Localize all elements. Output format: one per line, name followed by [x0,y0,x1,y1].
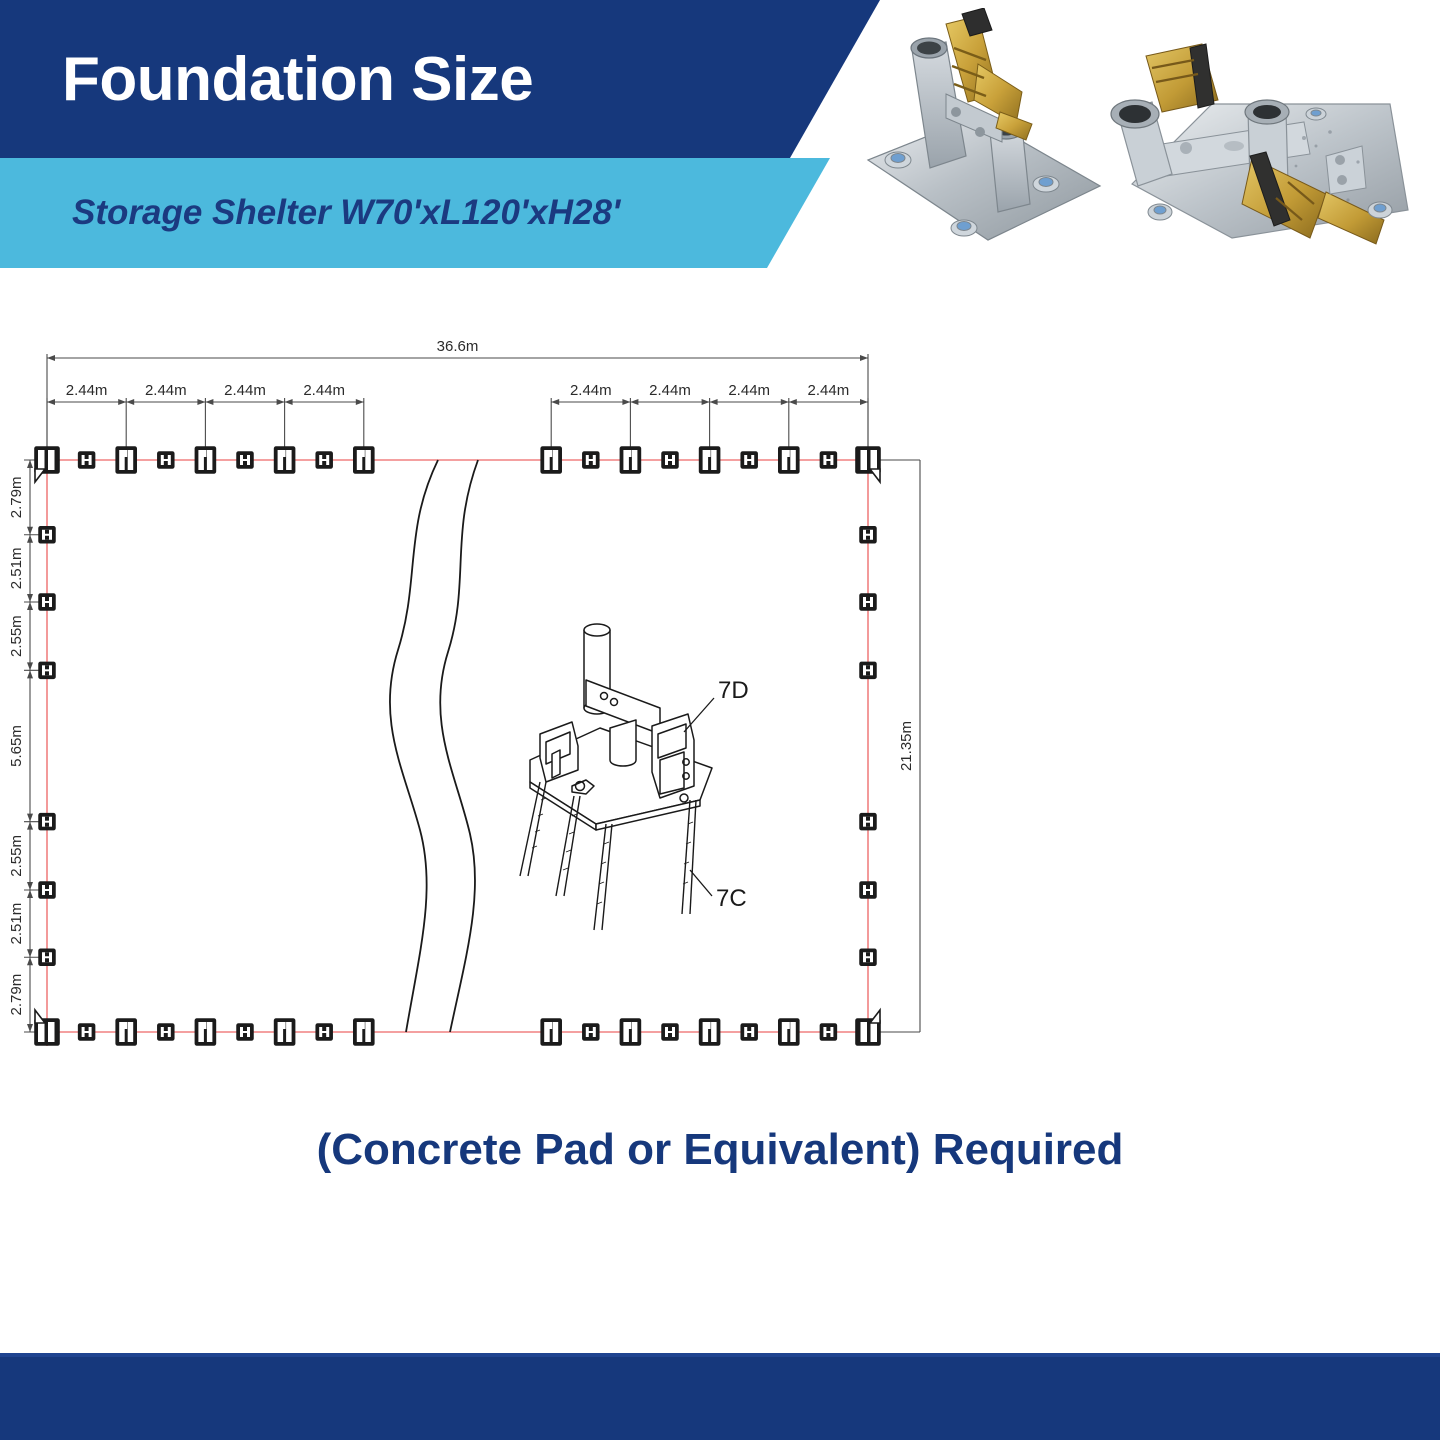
anchor-stake [39,662,55,678]
page-subtitle: Storage Shelter W70'xL120'xH28' [72,193,620,233]
anchor-base-plate [700,447,720,473]
anchor-stake [741,452,757,468]
foundation-plan-svg: 36.6m2.44m2.44m2.44m2.44m2.44m2.44m2.44m… [0,330,1440,1090]
anchor-base-plate [354,1019,374,1045]
anchor-stake [39,594,55,610]
anchor-base-plate [195,447,215,473]
dimension-label: 2.51m [8,548,25,590]
dimension-label: 2.79m [8,974,25,1016]
anchor-stake [860,814,876,830]
foundation-perimeter [47,460,868,1046]
anchor-stake [820,452,836,468]
dimension-label: 2.44m [649,382,691,399]
anchor-detail-isometric [520,624,714,930]
dimension-label: 2.44m [303,382,345,399]
footer-bar [0,1357,1440,1440]
anchor-base-plate [700,1019,720,1045]
anchor-stake [158,1024,174,1040]
anchor-stake [662,1024,678,1040]
dimension-label: 2.79m [8,477,25,519]
anchor-stake [860,527,876,543]
anchor-stake [860,594,876,610]
dimension-label: 2.44m [145,382,187,399]
anchor-stake [662,452,678,468]
foundation-plan-drawing: 36.6m2.44m2.44m2.44m2.44m2.44m2.44m2.44m… [0,330,1440,1090]
dimension-label: 36.6m [437,338,479,355]
base-plate-ratchet-top-view [1090,42,1420,272]
anchor-base-plate [620,447,640,473]
callout-label-layer: 7D 7C [716,677,749,912]
dimension-label: 2.51m [8,903,25,945]
anchor-base-plate [620,1019,640,1045]
title-band: Foundation Size [0,0,880,158]
caption-text: (Concrete Pad or Equivalent) Required [0,1125,1440,1175]
anchor-stake [39,949,55,965]
page-title: Foundation Size [62,44,533,115]
anchor-base-plate [779,447,799,473]
anchor-stake [158,452,174,468]
anchor-base-plate [779,1019,799,1045]
anchor-stake [820,1024,836,1040]
dimension-label: 2.44m [808,382,850,399]
dimension-label: 2.44m [728,382,770,399]
dimension-label: 2.44m [224,382,266,399]
dimension-label: 2.55m [8,835,25,877]
subtitle-band: Storage Shelter W70'xL120'xH28' [0,158,830,268]
break-line-layer [390,460,478,1032]
callout-label-7c: 7C [716,885,747,912]
anchor-stake [39,814,55,830]
anchor-stake [316,1024,332,1040]
anchor-base-plate [275,447,295,473]
anchor-stake [237,1024,253,1040]
anchor-base-plate [116,447,136,473]
anchor-base-plate [354,447,374,473]
anchor-base-plate [116,1019,136,1045]
anchor-base-plate [541,447,561,473]
anchor-stake [583,452,599,468]
dimension-text-layer: 36.6m2.44m2.44m2.44m2.44m2.44m2.44m2.44m… [8,338,915,1015]
anchor-stake [741,1024,757,1040]
anchor-base-plate [195,1019,215,1045]
dimension-label: 2.44m [570,382,612,399]
anchor-stake [860,882,876,898]
product-photo-group [840,0,1440,290]
anchor-stake [316,452,332,468]
dimension-label: 2.44m [66,382,108,399]
anchor-stake [39,882,55,898]
anchor-symbol-layer [35,447,880,1045]
anchor-stake [79,1024,95,1040]
anchor-base-plate [275,1019,295,1045]
anchor-stake [237,452,253,468]
anchor-stake [583,1024,599,1040]
anchor-stake [860,949,876,965]
header: Foundation Size Storage Shelter W70'xL12… [0,0,1440,300]
base-plate-ratchet-angle-view [850,8,1110,280]
dimension-label: 21.35m [898,721,915,771]
anchor-stake [79,452,95,468]
anchor-stake [39,527,55,543]
callout-label-7d: 7D [718,677,749,704]
dimension-label: 5.65m [8,725,25,767]
anchor-base-plate [541,1019,561,1045]
dimension-label: 2.55m [8,615,25,657]
anchor-stake [860,662,876,678]
